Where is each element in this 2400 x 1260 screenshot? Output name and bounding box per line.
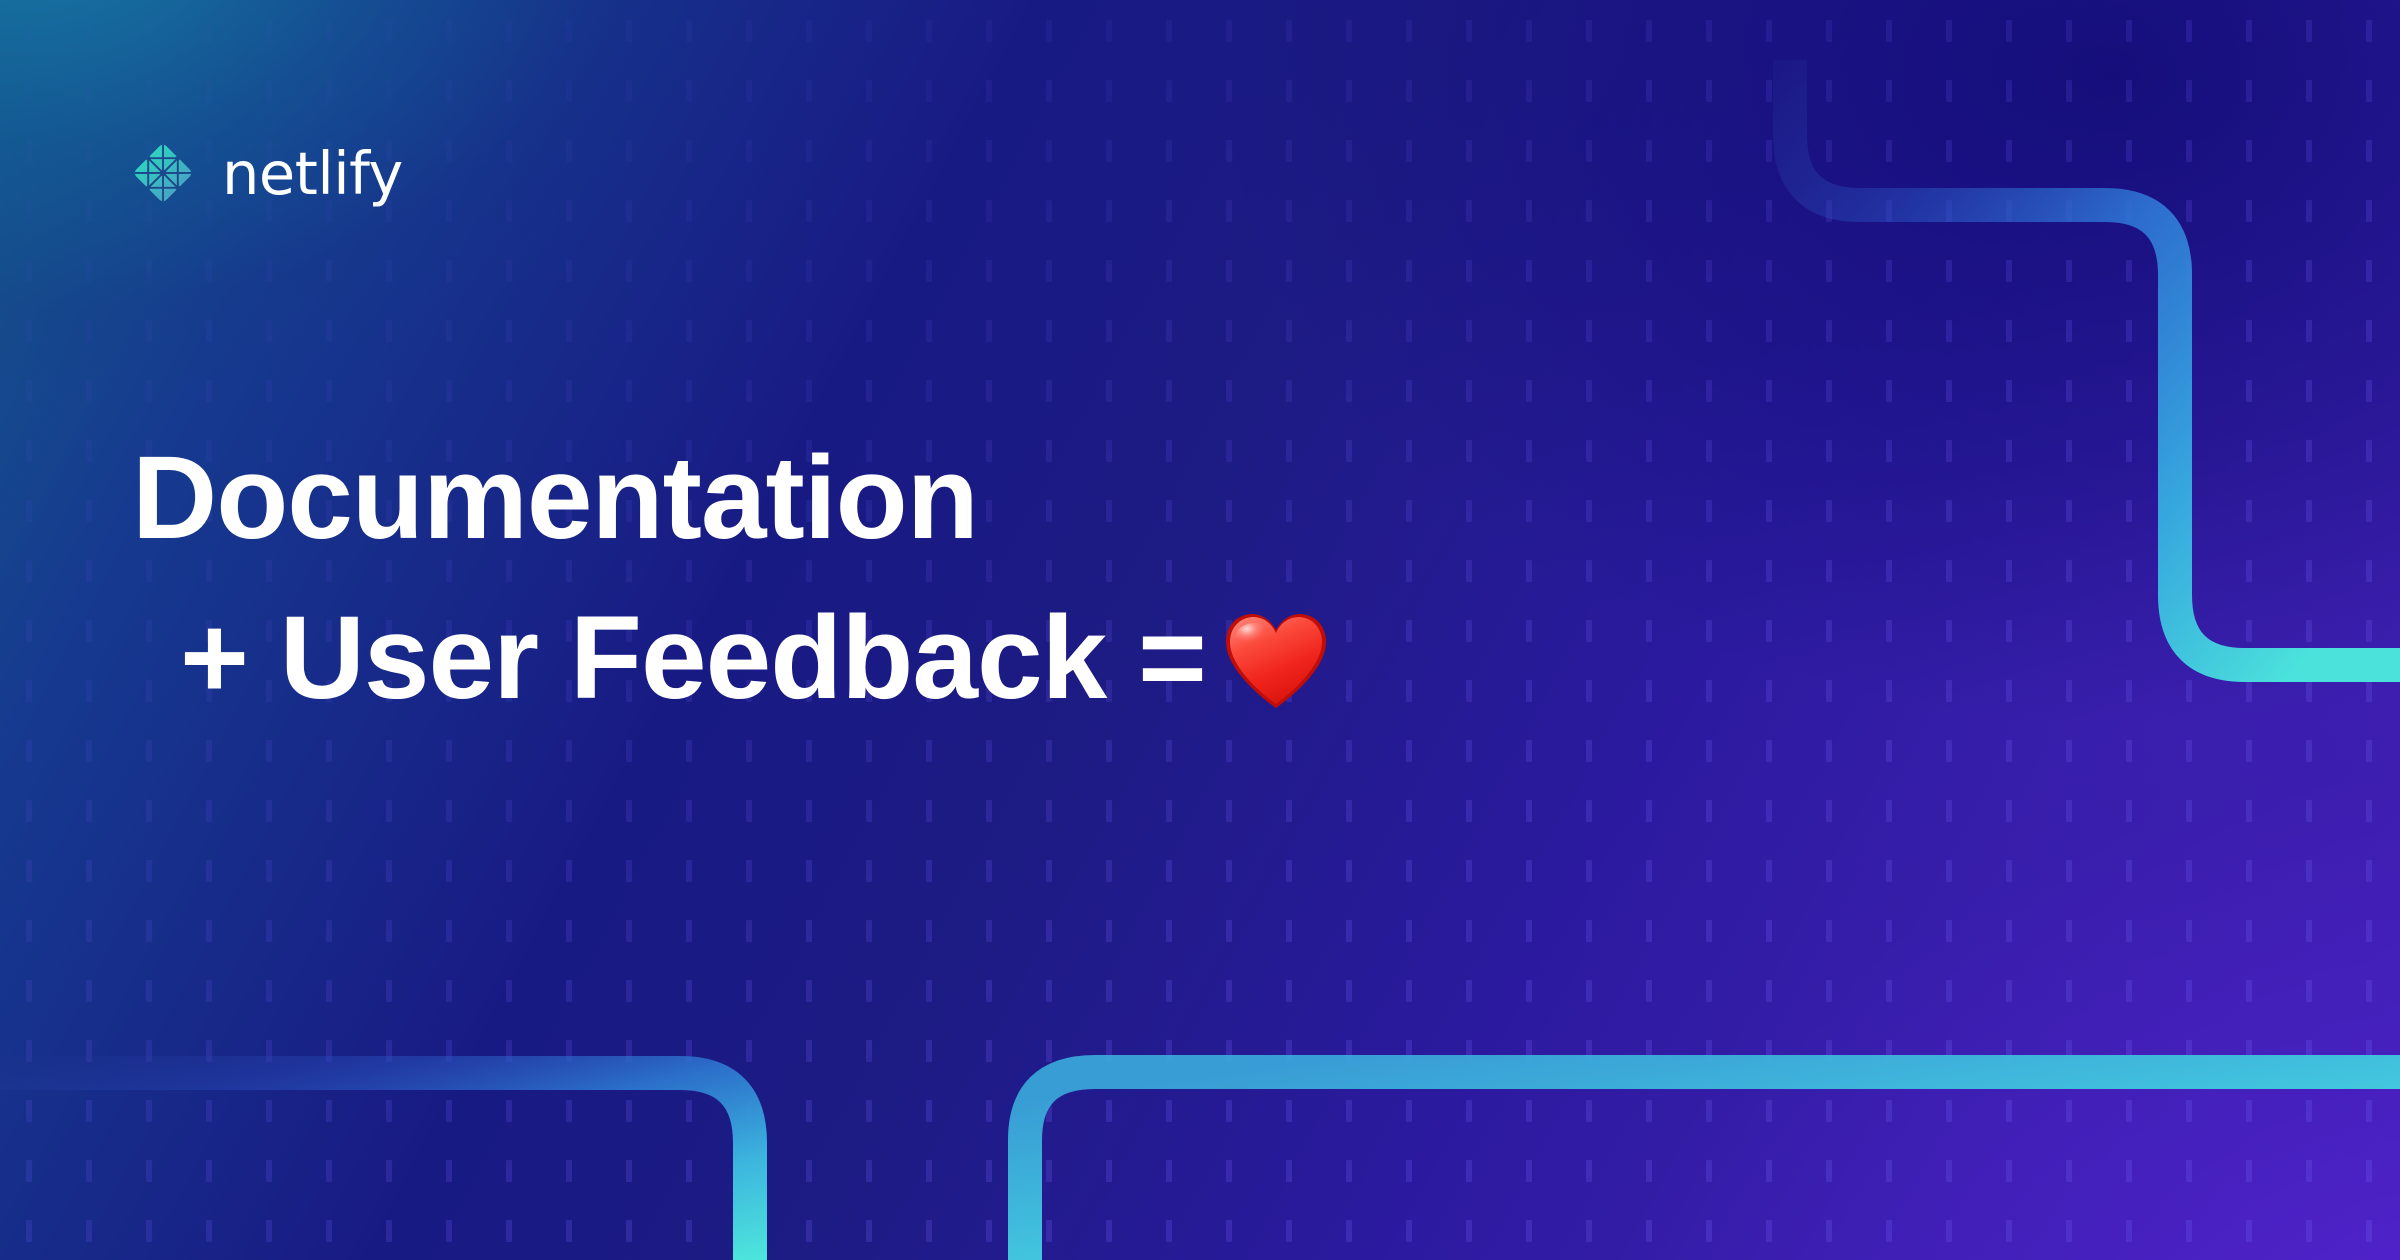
decorative-path-bottom-left-inner — [1025, 1072, 2400, 1260]
headline-line-2: + User Feedback = — [132, 578, 1832, 752]
decorative-path-top-right — [1790, 60, 2400, 665]
headline-line-1: Documentation — [132, 432, 978, 564]
red-heart-emoji-icon — [1222, 592, 1330, 752]
netlify-diamond-logo-icon — [126, 136, 200, 210]
netlify-logo-lockup[interactable]: netlify — [126, 136, 403, 210]
netlify-wordmark: netlify — [222, 144, 403, 203]
netlify-documentation-banner: netlify Documentation + User Feedback = — [0, 0, 2400, 1260]
decorative-path-bottom-left-outer — [0, 1073, 750, 1260]
page-title: Documentation + User Feedback = — [132, 418, 1832, 752]
headline-line-2-text: + User Feedback = — [180, 592, 1206, 724]
